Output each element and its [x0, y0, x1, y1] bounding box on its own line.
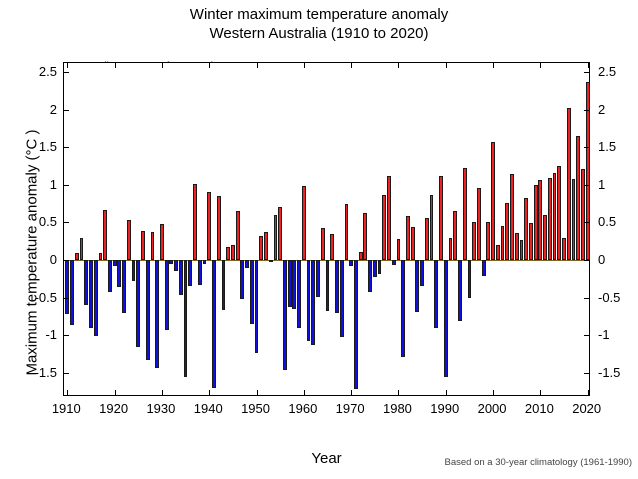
bar-1941 — [212, 260, 216, 388]
bar-1965 — [326, 260, 330, 311]
bar-2002 — [501, 226, 505, 260]
bar-1936 — [188, 260, 192, 286]
x-tick-top-1910 — [67, 63, 68, 68]
y-tick-label-right-1.5: 1.5 — [598, 139, 638, 154]
bar-2013 — [553, 173, 557, 260]
x-tick-label-2010: 2010 — [514, 401, 564, 416]
x-tick-label-1910: 1910 — [41, 401, 91, 416]
bar-2020 — [586, 82, 590, 260]
chart-root: Winter maximum temperature anomaly Weste… — [0, 0, 638, 479]
bar-1944 — [226, 247, 230, 261]
bar-1931 — [165, 260, 169, 330]
bar-1918 — [103, 210, 107, 260]
plot-area — [63, 62, 590, 396]
bar-1971 — [354, 260, 358, 389]
bar-1947 — [240, 260, 244, 299]
y-tick-left--1 — [64, 335, 69, 336]
x-tick-top-1920 — [115, 63, 116, 68]
bar-1963 — [316, 260, 320, 297]
bar-1978 — [387, 176, 391, 260]
bar-1970 — [349, 260, 353, 266]
bar-1952 — [264, 232, 268, 261]
bar-1958 — [292, 260, 296, 309]
bar-1994 — [463, 168, 467, 260]
bar-1910 — [65, 260, 69, 314]
x-tick-bottom-1930 — [162, 390, 163, 395]
bar-1923 — [127, 220, 131, 260]
bar-1993 — [458, 260, 462, 321]
bar-1980 — [397, 239, 401, 260]
bar-1916 — [94, 260, 98, 336]
bar-1995 — [468, 260, 472, 298]
bar-1968 — [340, 260, 344, 337]
y-tick-right-1.5 — [584, 147, 589, 148]
bar-1973 — [363, 213, 367, 260]
bar-1933 — [174, 260, 178, 271]
x-tick-top-1980 — [398, 63, 399, 68]
bar-1979 — [392, 260, 396, 265]
bar-1934 — [179, 260, 183, 295]
y-tick-right-0 — [584, 260, 589, 261]
x-tick-bottom-1910 — [67, 390, 68, 395]
bar-2001 — [496, 245, 500, 260]
bar-1938 — [198, 260, 202, 285]
bar-1962 — [311, 260, 315, 345]
bar-1917 — [99, 253, 103, 260]
bar-2009 — [534, 185, 538, 260]
y-tick-left-2 — [64, 110, 69, 111]
bar-2000 — [491, 142, 495, 260]
bar-1929 — [155, 260, 159, 368]
bar-1935 — [184, 260, 188, 377]
bar-1960 — [302, 186, 306, 260]
bar-1949 — [250, 260, 254, 324]
bar-1913 — [80, 238, 84, 261]
bar-1985 — [420, 260, 424, 286]
bar-1943 — [222, 260, 226, 310]
bar-2017 — [572, 179, 576, 260]
x-tick-label-2000: 2000 — [467, 401, 517, 416]
bar-1967 — [335, 260, 339, 313]
x-tick-bottom-1940 — [209, 390, 210, 395]
bar-1911 — [70, 260, 74, 325]
x-tick-label-1970: 1970 — [325, 401, 375, 416]
bar-1956 — [283, 260, 287, 370]
y-tick-label-left-2: 2 — [17, 102, 57, 117]
x-tick-bottom-2000 — [493, 390, 494, 395]
bar-2006 — [520, 240, 524, 260]
bar-1953 — [269, 260, 273, 262]
x-tick-top-1950 — [257, 63, 258, 68]
x-tick-bottom-1960 — [304, 390, 305, 395]
bar-2015 — [562, 238, 566, 261]
bar-1989 — [439, 176, 443, 260]
x-tick-bottom-1950 — [257, 390, 258, 395]
bar-1915 — [89, 260, 93, 328]
x-tick-label-2020: 2020 — [562, 401, 612, 416]
y-tick-label-right--1.5: -1.5 — [598, 365, 638, 380]
bar-series — [64, 63, 589, 395]
y-tick-right--1.5 — [584, 373, 589, 374]
bar-1939 — [203, 260, 207, 264]
bar-1991 — [449, 238, 453, 261]
bar-1946 — [236, 211, 240, 260]
y-tick-label-left-0: 0 — [17, 252, 57, 267]
title-line-1: Winter maximum temperature anomaly — [0, 5, 638, 24]
y-tick-left-1 — [64, 185, 69, 186]
y-tick-label-left-1.5: 1.5 — [17, 139, 57, 154]
x-tick-bottom-1980 — [398, 390, 399, 395]
x-tick-bottom-1970 — [351, 390, 352, 395]
bar-1982 — [406, 216, 410, 260]
y-tick-right--1 — [584, 335, 589, 336]
bar-1926 — [141, 231, 145, 260]
y-tick-left-0.5 — [64, 222, 69, 223]
bar-1964 — [321, 228, 325, 260]
bar-1990 — [444, 260, 448, 377]
y-tick-label-left--1.5: -1.5 — [17, 365, 57, 380]
bar-1954 — [274, 215, 278, 260]
bar-2008 — [529, 223, 533, 260]
x-tick-bottom-2010 — [540, 390, 541, 395]
bar-2012 — [548, 178, 552, 260]
y-tick-label-right-2.5: 2.5 — [598, 64, 638, 79]
y-tick-label-left-0.5: 0.5 — [17, 214, 57, 229]
bar-1959 — [297, 260, 301, 328]
x-tick-top-1990 — [446, 63, 447, 68]
y-tick-label-right--0.5: -0.5 — [598, 290, 638, 305]
x-tick-top-2000 — [493, 63, 494, 68]
y-tick-label-right-2: 2 — [598, 102, 638, 117]
y-tick-right-2.5 — [584, 72, 589, 73]
bar-1998 — [482, 260, 486, 276]
bar-2019 — [581, 169, 585, 260]
y-tick-left--1.5 — [64, 373, 69, 374]
y-tick-label-left-1: 1 — [17, 177, 57, 192]
bar-1988 — [434, 260, 438, 328]
bar-1957 — [288, 260, 292, 307]
bar-1977 — [382, 195, 386, 260]
bar-1975 — [373, 260, 377, 277]
x-tick-label-1920: 1920 — [89, 401, 139, 416]
bar-1981 — [401, 260, 405, 357]
bar-1940 — [207, 192, 211, 260]
bar-1986 — [425, 218, 429, 260]
bar-1976 — [378, 260, 382, 274]
bar-1928 — [151, 232, 155, 260]
bar-1996 — [472, 222, 476, 260]
bar-1942 — [217, 196, 221, 260]
bar-1983 — [411, 227, 415, 260]
x-tick-top-2020 — [588, 63, 589, 68]
x-tick-top-1940 — [209, 63, 210, 68]
x-tick-bottom-2020 — [588, 390, 589, 395]
x-tick-top-1960 — [304, 63, 305, 68]
bar-2018 — [576, 136, 580, 260]
bar-1919 — [108, 260, 112, 292]
y-tick-label-left--0.5: -0.5 — [17, 290, 57, 305]
bar-1932 — [169, 260, 173, 264]
bar-1937 — [193, 184, 197, 260]
bar-1972 — [359, 252, 363, 260]
x-tick-label-1980: 1980 — [372, 401, 422, 416]
x-tick-label-1960: 1960 — [278, 401, 328, 416]
x-tick-top-2010 — [540, 63, 541, 68]
y-tick-right-2 — [584, 110, 589, 111]
bar-1992 — [453, 211, 457, 260]
bar-1930 — [160, 224, 164, 260]
bar-1955 — [278, 207, 282, 260]
bar-1997 — [477, 188, 481, 260]
y-tick-label-left-2.5: 2.5 — [17, 64, 57, 79]
bar-2003 — [505, 203, 509, 260]
bar-2011 — [543, 215, 547, 260]
bar-2005 — [515, 233, 519, 260]
bar-1924 — [132, 260, 136, 281]
bar-1948 — [245, 260, 249, 268]
x-tick-label-1930: 1930 — [136, 401, 186, 416]
bar-2014 — [557, 166, 561, 260]
bar-1950 — [255, 260, 259, 353]
bar-1961 — [307, 260, 311, 340]
bar-1925 — [136, 260, 140, 347]
x-tick-bottom-1920 — [115, 390, 116, 395]
chart-title: Winter maximum temperature anomaly Weste… — [0, 5, 638, 43]
x-tick-top-1970 — [351, 63, 352, 68]
y-tick-label-right-1: 1 — [598, 177, 638, 192]
footer-annotation: Based on a 30-year climatology (1961-199… — [445, 457, 632, 468]
y-tick-left-2.5 — [64, 72, 69, 73]
bar-1966 — [330, 234, 334, 260]
y-tick-label-right-0: 0 — [598, 252, 638, 267]
bar-1951 — [259, 236, 263, 260]
bar-1921 — [117, 260, 121, 287]
y-tick-label-right-0.5: 0.5 — [598, 214, 638, 229]
y-tick-label-left--1: -1 — [17, 327, 57, 342]
y-tick-right--0.5 — [584, 298, 589, 299]
bar-2004 — [510, 174, 514, 261]
y-tick-left-0 — [64, 260, 69, 261]
x-tick-label-1990: 1990 — [420, 401, 470, 416]
bar-1969 — [345, 204, 349, 260]
bar-1945 — [231, 245, 235, 260]
bar-2007 — [524, 198, 528, 260]
bar-2010 — [538, 180, 542, 260]
y-tick-label-right--1: -1 — [598, 327, 638, 342]
bar-1999 — [486, 222, 490, 260]
bar-1912 — [75, 253, 79, 260]
bar-1984 — [415, 260, 419, 312]
title-line-2: Western Australia (1910 to 2020) — [0, 24, 638, 43]
x-tick-bottom-1990 — [446, 390, 447, 395]
bar-1914 — [84, 260, 88, 305]
y-tick-right-1 — [584, 185, 589, 186]
bar-1922 — [122, 260, 126, 313]
bar-1974 — [368, 260, 372, 292]
bar-1987 — [430, 195, 434, 260]
y-tick-left-1.5 — [64, 147, 69, 148]
y-tick-right-0.5 — [584, 222, 589, 223]
bar-1920 — [113, 260, 117, 266]
x-tick-label-1940: 1940 — [183, 401, 233, 416]
bar-2016 — [567, 108, 571, 260]
bar-1927 — [146, 260, 150, 360]
x-tick-top-1930 — [162, 63, 163, 68]
x-tick-label-1950: 1950 — [231, 401, 281, 416]
y-tick-left--0.5 — [64, 298, 69, 299]
